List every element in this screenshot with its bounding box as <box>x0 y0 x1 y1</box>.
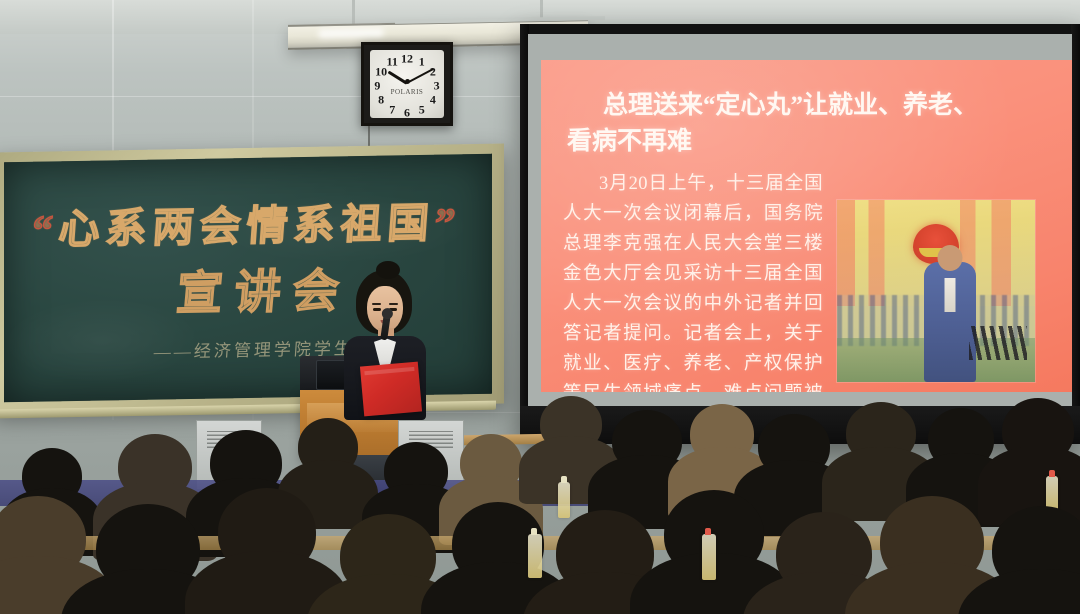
blackboard-headline-quote-open: “ <box>31 206 61 253</box>
photo-premier-figure <box>924 262 976 382</box>
clock-number-6: 6 <box>404 105 410 120</box>
slide-body-text: 3月20日上午，十三届全国人大一次会议闭幕后，国务院总理李克强在人民大会堂三楼金… <box>563 170 823 392</box>
audience-head <box>690 404 754 464</box>
projection-screen: 总理送来“定心丸”让就业、养老、看病不再难 3月20日上午，十三届全国人大一次会… <box>520 24 1080 444</box>
presentation-slide: 总理送来“定心丸”让就业、养老、看病不再难 3月20日上午，十三届全国人大一次会… <box>541 60 1072 392</box>
audience-head <box>540 396 602 452</box>
slide-photo-press-conference <box>837 200 1035 382</box>
presenter-eye-left <box>373 308 381 311</box>
clock-number-12: 12 <box>401 51 413 66</box>
clock-number-10: 10 <box>375 65 387 80</box>
audience-head <box>880 496 984 588</box>
clock-brand-label: POLARIS <box>391 88 424 96</box>
audience-head <box>758 414 830 478</box>
audience-area <box>0 384 1080 614</box>
clock-number-4: 4 <box>430 93 436 108</box>
water-bottle <box>702 534 716 580</box>
audience-head <box>340 514 436 598</box>
blackboard-headline: “心系两会情系祖国” <box>10 188 484 256</box>
clock-number-1: 1 <box>419 55 425 70</box>
clock-number-5: 5 <box>419 102 425 117</box>
audience-head <box>776 512 872 596</box>
audience-head <box>118 434 192 500</box>
audience-head <box>0 496 86 580</box>
audience-head <box>846 402 916 464</box>
screen-frame-right <box>1071 24 1080 444</box>
blackboard-headline-main: 心系两会情系祖国 <box>57 200 436 253</box>
audience-head <box>210 430 282 496</box>
audience-head <box>384 442 448 500</box>
audience-head <box>298 418 358 476</box>
water-bottle <box>558 482 570 518</box>
blackboard-headline-quote-close: ” <box>433 199 463 246</box>
presenter-hair-bun <box>376 261 400 279</box>
audience-head <box>96 504 200 594</box>
presenter-eyebrow-left <box>372 303 381 305</box>
light-stem <box>352 0 355 24</box>
clock-number-3: 3 <box>434 79 440 94</box>
photo-microphones <box>969 326 1027 360</box>
presenter-eyebrow-right <box>389 303 398 305</box>
audience-head <box>992 506 1080 594</box>
audience-head <box>218 488 316 576</box>
lecture-hall-photo: 12 1 2 3 4 5 6 7 8 9 10 11 POLARIS “心系两会… <box>0 0 1080 614</box>
clock-face: 12 1 2 3 4 5 6 7 8 9 10 11 POLARIS <box>370 50 444 118</box>
water-bottle <box>528 534 542 578</box>
audience-head <box>1002 398 1074 464</box>
clock-number-8: 8 <box>378 93 384 108</box>
audience-head <box>612 410 682 472</box>
water-bottle <box>1046 476 1058 510</box>
slide-title: 总理送来“定心丸”让就业、养老、看病不再难 <box>567 88 987 159</box>
audience-head <box>928 408 994 470</box>
clock-number-9: 9 <box>374 79 380 94</box>
clock-number-7: 7 <box>389 102 395 117</box>
audience-head <box>460 434 522 492</box>
clock-number-11: 11 <box>387 55 398 70</box>
wall-clock: 12 1 2 3 4 5 6 7 8 9 10 11 POLARIS <box>361 42 453 126</box>
screen-surface: 总理送来“定心丸”让就业、养老、看病不再难 3月20日上午，十三届全国人大一次会… <box>528 34 1072 406</box>
